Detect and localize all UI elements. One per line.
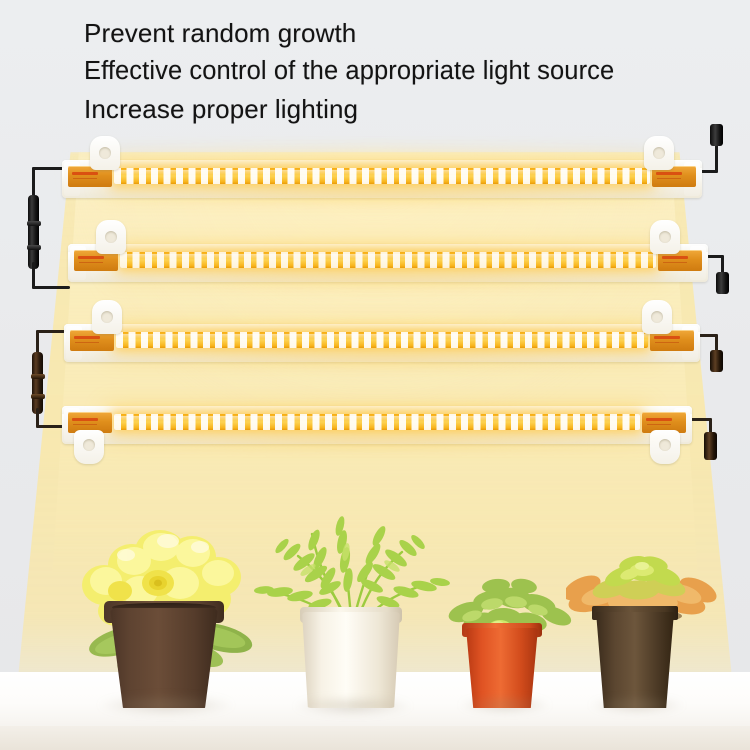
led-bar-4-rail [62, 406, 692, 414]
product-scene: Prevent random growth Effective control … [0, 0, 750, 750]
cable-connector-left-upper [28, 195, 39, 269]
led-bar-2-mount-left[interactable] [96, 220, 126, 254]
led-bar-2[interactable] [68, 234, 708, 292]
led-bar-2-mount-right[interactable] [650, 220, 680, 254]
led-bar-4-sheen [114, 416, 640, 421]
headline-line-1: Prevent random growth [84, 14, 734, 52]
led-bar-2-underlight [94, 274, 683, 290]
led-bar-2-strip [120, 252, 656, 268]
cable-left-upper-h2 [32, 286, 70, 289]
led-bar-4-strip [114, 414, 640, 430]
cable-connector-right-mid [716, 272, 729, 294]
shadow-pot-yellow-flowers [96, 694, 236, 716]
headline-block: Prevent random growth Effective control … [84, 14, 734, 128]
cable-connector-right-top [710, 124, 723, 146]
pot-succulent [596, 612, 674, 708]
led-bar-3-rail [64, 324, 700, 332]
led-bar-1-mount-right[interactable] [644, 136, 674, 170]
led-bar-1-rail [62, 160, 702, 168]
led-bar-4[interactable] [62, 396, 692, 454]
led-bar-3[interactable] [64, 314, 700, 372]
led-bar-3-underlight [89, 354, 674, 370]
led-bar-1-underlight [88, 190, 677, 206]
led-bar-4-underlight [87, 436, 667, 452]
led-bar-2-rail [68, 244, 708, 252]
led-bar-3-mount-right[interactable] [642, 300, 672, 334]
headline-line-3: Increase proper lighting [84, 90, 734, 128]
shadow-pot-fern [292, 696, 414, 716]
table-edge [0, 726, 750, 750]
cable-left-upper-v2 [32, 262, 35, 289]
led-bar-1-sheen [114, 170, 650, 175]
shadow-pot-small-leafy [458, 696, 552, 714]
shadow-pot-succulent [588, 696, 686, 714]
led-bar-2-sheen [120, 254, 656, 259]
led-bar-3-sheen [116, 334, 648, 339]
pot-yellow-flowers [110, 608, 218, 708]
led-bar-3-strip [116, 332, 648, 348]
led-bar-1-strip [114, 168, 650, 184]
cable-connector-right-bottom [704, 432, 717, 460]
headline-line-2: Effective control of the appropriate lig… [84, 52, 734, 90]
led-bar-3-mount-left[interactable] [92, 300, 122, 334]
cable-connector-right-b3 [710, 350, 723, 372]
led-bar-1[interactable] [62, 150, 702, 208]
cable-connector-left-lower [32, 352, 43, 414]
led-bar-1-mount-left[interactable] [90, 136, 120, 170]
pot-fern [302, 612, 400, 708]
